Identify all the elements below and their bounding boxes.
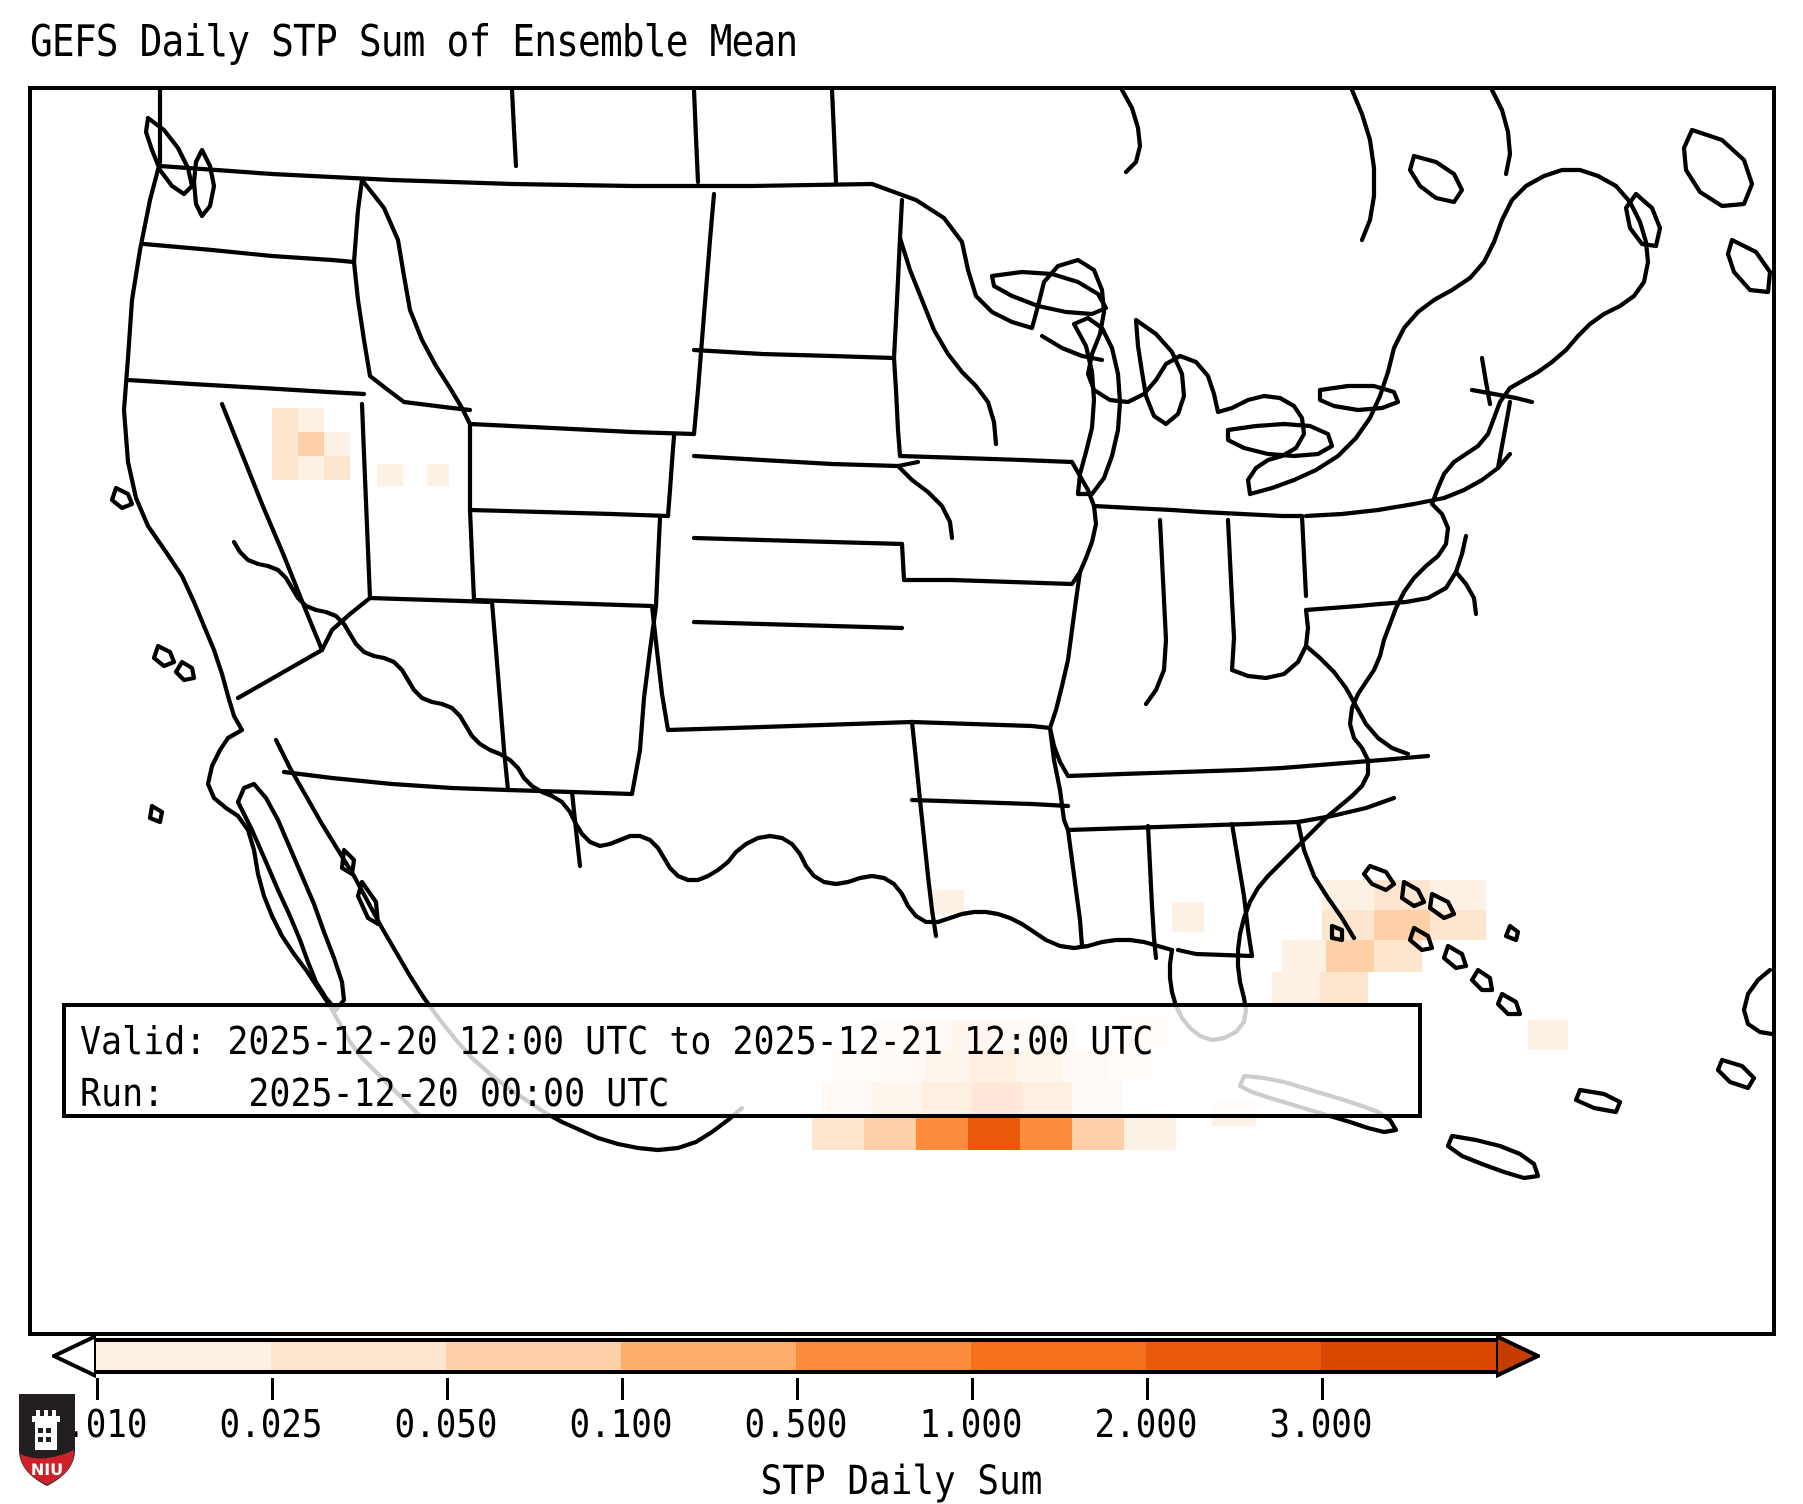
state-border-pa-ny (1306, 498, 1444, 516)
state-border-ne-ks (694, 538, 902, 544)
lake-erie (1228, 424, 1332, 456)
state-border-al-ga (1232, 824, 1252, 956)
state-border-newengland-3 (1482, 358, 1490, 404)
state-border-mt-nd (694, 194, 714, 434)
island-small-1 (112, 488, 132, 508)
colorbar-tick-label: 0.050 (395, 1402, 498, 1446)
state-border-wy-ne (668, 436, 674, 516)
state-border-mn-wi (900, 238, 996, 444)
colorbar-axis-label-text: STP Daily Sum (761, 1458, 1043, 1504)
island-canada-ne (1410, 156, 1462, 202)
state-border-tn-ms-al-ga (1068, 822, 1298, 830)
colorbar-tick-label: 3.000 (1270, 1402, 1373, 1446)
colorbar-tick (446, 1378, 449, 1400)
state-border-sd-ne (694, 456, 918, 466)
colorbar-segment (621, 1342, 796, 1370)
coastline-atlantic (1238, 388, 1510, 998)
state-border-ia-il (1080, 506, 1096, 572)
colorbar-tick (796, 1378, 799, 1400)
colorbar-tick-label: 1.000 (920, 1402, 1023, 1446)
island-bahamas-1 (1364, 866, 1394, 890)
state-border-az-mex (284, 772, 508, 790)
state-border-wy-co (470, 510, 668, 516)
state-border-oh-pa (1302, 516, 1306, 596)
state-border-ms-al (1148, 826, 1156, 958)
state-border-mt-wy (470, 424, 694, 434)
state-border-co-nm (474, 600, 656, 642)
state-border-md-de (1456, 572, 1476, 614)
state-border-ne-ia (898, 466, 952, 538)
state-border-ga-fl (1178, 950, 1252, 956)
colorbar-tick (1321, 1378, 1324, 1400)
state-border-ar-la (912, 800, 1068, 806)
state-border-wa-id (354, 180, 362, 262)
coastline-hispaniola (1448, 1136, 1538, 1178)
state-border-ut-co (470, 510, 474, 600)
state-border-az-nm (492, 602, 508, 790)
state-border-il-in (1146, 520, 1166, 704)
page-title: GEFS Daily STP Sum of Ensemble Mean (30, 16, 797, 67)
island-puertorico (1576, 1090, 1620, 1112)
colorbar-tick-label: 0.100 (570, 1402, 673, 1446)
colorbar-gradient (96, 1338, 1496, 1374)
island-small-4 (150, 806, 162, 822)
state-border-or-id (354, 262, 404, 402)
border-canada-provinces-3 (832, 90, 836, 182)
state-border-ut-nv (362, 404, 370, 598)
colorbar-segment (796, 1342, 971, 1370)
coastline-hudson (1122, 90, 1140, 172)
island-bahamas-2 (1402, 882, 1424, 906)
colorbar-tick-label: 2.000 (1095, 1402, 1198, 1446)
colorbar: 0.0100.0250.0500.1000.5001.0002.0003.000… (0, 1330, 1803, 1500)
border-us-canada-west (160, 166, 872, 186)
state-border-or-ca (128, 380, 364, 394)
state-border-mt-id (362, 180, 470, 424)
state-border-nd-mn (894, 200, 902, 358)
colorbar-segment (1146, 1342, 1321, 1370)
state-border-mo-il (1050, 572, 1080, 728)
colorbar-tick (971, 1378, 974, 1400)
valid-time-text: Valid: 2025-12-20 12:00 UTC to 2025-12-2… (80, 1015, 1298, 1067)
colorbar-segment (96, 1342, 271, 1370)
state-border-ar-ms (1050, 728, 1082, 946)
coastline-canada-ne (1352, 90, 1374, 240)
island-bahamas-7 (1498, 994, 1520, 1014)
colorbar-tick (271, 1378, 274, 1400)
island-bahamas-5 (1444, 946, 1466, 968)
island-right-edge-2 (1718, 1060, 1754, 1088)
state-border-nc-va (1282, 756, 1428, 768)
coastline-puget-sound (194, 150, 214, 216)
niu-logo: NIU (16, 1392, 78, 1488)
state-border-nd-sd (694, 350, 894, 358)
island-bahamas-4 (1410, 928, 1432, 950)
state-border-wa-or (144, 244, 354, 262)
coastline-pacific (124, 90, 418, 1114)
state-border-la-tx (912, 722, 936, 936)
island-dot-2 (1506, 926, 1518, 940)
colorbar-axis-label: STP Daily Sum (0, 1458, 1803, 1504)
island-small-3 (176, 662, 194, 680)
state-border-in-oh (1228, 520, 1234, 670)
coastline-baja (238, 784, 344, 1010)
state-border-in-wi-mi (1202, 512, 1302, 516)
lake-ontario (1320, 386, 1398, 410)
state-border-nm-tx (508, 606, 656, 794)
coastline-right-edge (1744, 970, 1772, 1034)
island-newfoundland (1684, 130, 1752, 206)
island-bahamas-6 (1472, 970, 1492, 990)
state-border-il-wi (1094, 506, 1202, 512)
island-dot-1 (1332, 926, 1342, 940)
run-time-text: Run: 2025-12-20 00:00 UTC (80, 1067, 1298, 1119)
state-border-sd-mn (894, 358, 900, 456)
state-border-ia-mo (952, 572, 1080, 584)
border-us-canada-east (1250, 170, 1616, 494)
colorbar-extend-over-arrow (1496, 1334, 1540, 1378)
island-right-edge-1 (1728, 240, 1770, 292)
island-small-2 (154, 646, 174, 666)
colorbar-tick (1146, 1378, 1149, 1400)
map-geography (32, 90, 1772, 1332)
state-border-co-ks-ok (656, 518, 660, 606)
border-canada-provinces-1 (512, 90, 516, 166)
coastline-gulf (728, 836, 1172, 950)
border-us-mexico-river (234, 542, 728, 880)
colorbar-segment (271, 1342, 446, 1370)
state-border-oh-wv-ky (1232, 610, 1308, 678)
state-border-wv-pa (1306, 604, 1380, 610)
colorbar-segment (446, 1342, 621, 1370)
colorbar-extend-under-arrow (52, 1334, 96, 1378)
colorbar-tick-label: 0.025 (220, 1402, 323, 1446)
state-border-ok-tx (656, 642, 912, 730)
annotation-box: Valid: 2025-12-20 12:00 UTC to 2025-12-2… (62, 1003, 1422, 1118)
colorbar-segment (971, 1342, 1146, 1370)
colorbar-tick (96, 1378, 99, 1400)
state-border-mo-ks (902, 544, 952, 580)
map-plot-area: Valid: 2025-12-20 12:00 UTC to 2025-12-2… (28, 86, 1776, 1336)
coastline-canada-far-ne (1492, 90, 1510, 174)
state-border-ia-mn (900, 456, 1072, 462)
state-border-mo-ar (912, 722, 1050, 728)
state-border-ky-tn (1068, 768, 1282, 776)
colorbar-tick-label: 0.500 (745, 1402, 848, 1446)
niu-logo-text: NIU (31, 1460, 63, 1479)
colorbar-segment (1321, 1342, 1496, 1370)
border-canada-provinces-2 (694, 90, 698, 182)
colorbar-tick (621, 1378, 624, 1400)
island-bahamas-3 (1430, 894, 1454, 918)
state-border-ks-ok (694, 622, 902, 628)
